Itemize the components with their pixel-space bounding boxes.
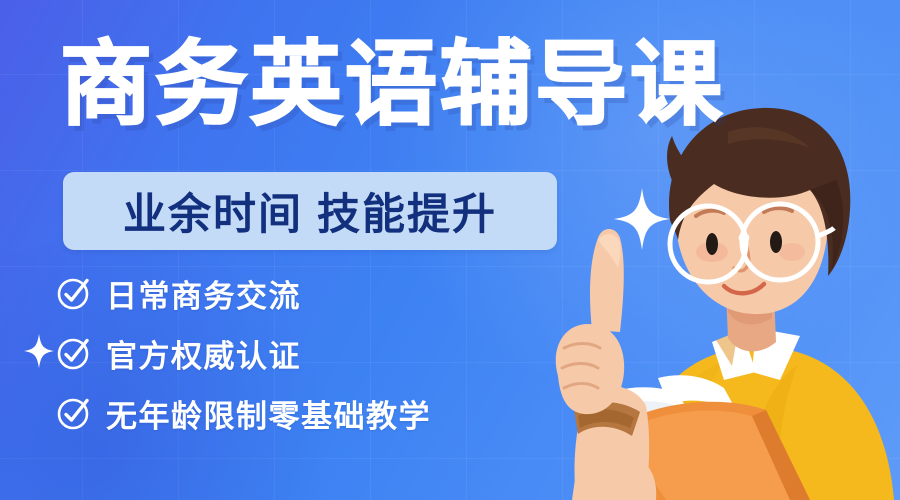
list-item: 无年龄限制零基础教学 [56,392,431,434]
list-item-label: 无年龄限制零基础教学 [106,391,431,436]
page-title: 商务英语辅导课 [60,30,725,140]
list-item-label: 日常商务交流 [106,271,301,316]
sparkle-small-icon [24,334,54,368]
man-with-book-illustration [480,80,900,500]
list-item: 官方权威认证 [56,332,431,374]
subtitle-badge: 业余时间 技能提升 [63,172,557,250]
feature-list: 日常商务交流 官方权威认证 无年龄限制零基础教学 [56,272,431,434]
check-circle-icon [56,336,90,370]
promo-banner: 商务英语辅导课 业余时间 技能提升 日常商务交流 官方权威认证 [0,0,900,500]
list-item: 日常商务交流 [56,272,431,314]
check-circle-icon [56,396,90,430]
subtitle-text: 业余时间 技能提升 [123,180,497,242]
sparkle-large-icon [614,188,670,250]
check-circle-icon [56,276,90,310]
list-item-label: 官方权威认证 [106,331,301,376]
